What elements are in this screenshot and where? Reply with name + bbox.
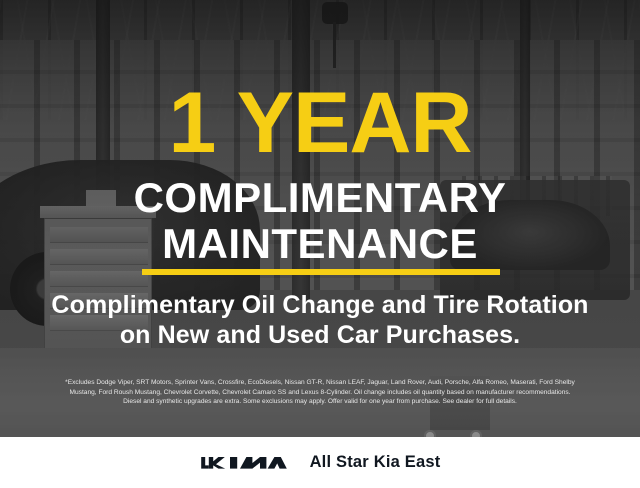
subheadline-line2: on New and Used Car Purchases. — [120, 321, 520, 349]
headline-secondary-line1: COMPLIMENTARY — [0, 176, 640, 220]
disclaimer-line-1: *Excludes Dodge Viper, SRT Motors, Sprin… — [14, 378, 626, 388]
kia-logo — [200, 451, 288, 474]
disclaimer-line-2: Mustang, Ford Roush Mustang, Chevrolet C… — [14, 388, 626, 398]
headline-secondary-line2: MAINTENANCE — [0, 222, 640, 266]
subheadline: Complimentary Oil Change and Tire Rotati… — [0, 290, 640, 350]
disclaimer-line-3: Diesel and synthetic upgrades are extra.… — [14, 397, 626, 407]
banner-footer: All Star Kia East — [0, 437, 640, 488]
yellow-divider-rule — [142, 269, 500, 275]
promo-banner: 1 YEAR COMPLIMENTARY MAINTENANCE Complim… — [0, 0, 640, 488]
banner-content: 1 YEAR COMPLIMENTARY MAINTENANCE Complim… — [0, 0, 640, 488]
dealer-name: All Star Kia East — [310, 453, 441, 472]
subheadline-line1: Complimentary Oil Change and Tire Rotati… — [51, 291, 588, 319]
headline-primary: 1 YEAR — [0, 80, 640, 166]
disclaimer-text: *Excludes Dodge Viper, SRT Motors, Sprin… — [14, 378, 626, 407]
